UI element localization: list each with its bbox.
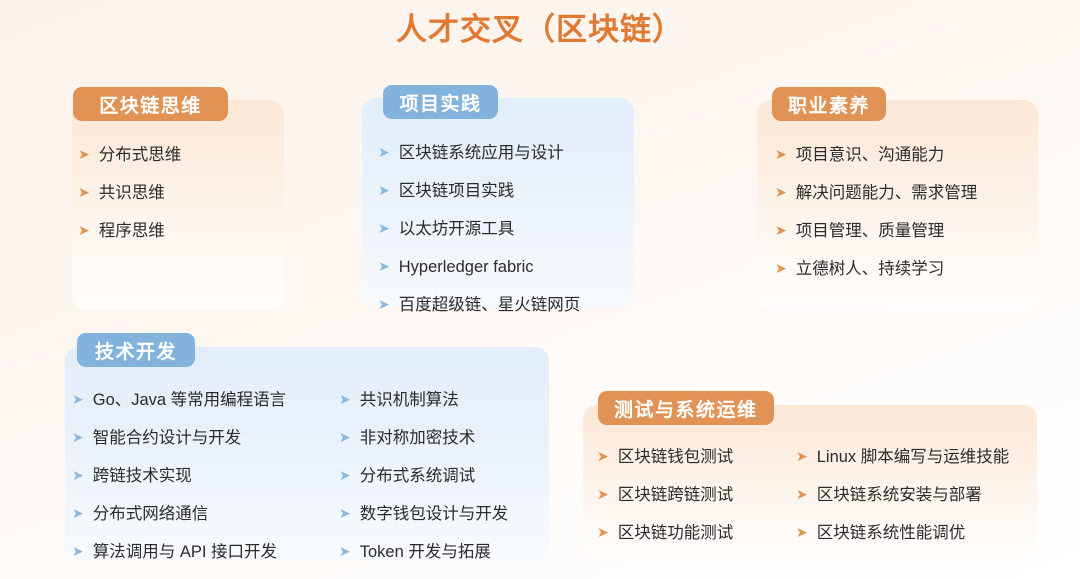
- list-item-label: 区块链系统应用与设计: [399, 138, 564, 168]
- list-item[interactable]: ➤ 解决问题能力、需求管理: [775, 178, 977, 208]
- card-items-testing-and-ops: ➤ 区块链钱包测试 ➤ 区块链跨链测试 ➤ 区块链功能测试 ➤ Linux 脚本…: [597, 442, 1026, 548]
- card-title-technical-development: 技术开发: [77, 333, 195, 367]
- list-item-label: Token 开发与拓展: [360, 537, 491, 567]
- testing-column-left: ➤ 区块链钱包测试 ➤ 区块链跨链测试 ➤ 区块链功能测试: [597, 442, 796, 548]
- arrow-bullet-icon: ➤: [339, 468, 351, 482]
- arrow-bullet-icon: ➤: [775, 147, 787, 161]
- list-item[interactable]: ➤ 区块链功能测试: [597, 518, 796, 548]
- arrow-bullet-icon: ➤: [775, 185, 787, 199]
- list-item-label: 分布式系统调试: [360, 461, 476, 491]
- list-item[interactable]: ➤ 项目管理、质量管理: [775, 216, 977, 246]
- arrow-bullet-icon: ➤: [339, 544, 351, 558]
- arrow-bullet-icon: ➤: [796, 449, 808, 463]
- arrow-bullet-icon: ➤: [72, 392, 84, 406]
- list-item-label: Go、Java 等常用编程语言: [93, 385, 286, 415]
- list-item[interactable]: ➤ 非对称加密技术: [339, 423, 539, 453]
- list-item-label: 区块链钱包测试: [618, 442, 734, 472]
- list-item[interactable]: ➤ 百度超级链、星火链网页: [378, 290, 580, 320]
- arrow-bullet-icon: ➤: [339, 392, 351, 406]
- arrow-bullet-icon: ➤: [796, 525, 808, 539]
- list-item[interactable]: ➤ 项目意识、沟通能力: [775, 140, 977, 170]
- list-item[interactable]: ➤ 区块链项目实践: [378, 176, 580, 206]
- arrow-bullet-icon: ➤: [378, 221, 390, 235]
- arrow-bullet-icon: ➤: [597, 525, 609, 539]
- list-item[interactable]: ➤ 区块链系统安装与部署: [796, 480, 1026, 510]
- list-item[interactable]: ➤ 程序思维: [78, 216, 181, 246]
- list-item-label: 算法调用与 API 接口开发: [93, 537, 277, 567]
- card-title-project-practice: 项目实践: [383, 85, 498, 119]
- list-item-label: 区块链项目实践: [399, 176, 515, 206]
- list-item-label: 区块链功能测试: [618, 518, 734, 548]
- arrow-bullet-icon: ➤: [339, 506, 351, 520]
- list-item[interactable]: ➤ 以太坊开源工具: [378, 214, 580, 244]
- list-item-label: 项目意识、沟通能力: [796, 140, 945, 170]
- list-item-label: 数字钱包设计与开发: [360, 499, 509, 529]
- list-item-label: 以太坊开源工具: [399, 214, 515, 244]
- list-item[interactable]: ➤ 区块链系统性能调优: [796, 518, 1026, 548]
- arrow-bullet-icon: ➤: [78, 147, 90, 161]
- list-item[interactable]: ➤ 算法调用与 API 接口开发: [72, 537, 339, 567]
- list-item-label: 分布式网络通信: [93, 499, 209, 529]
- list-item-label: 共识机制算法: [360, 385, 459, 415]
- list-item[interactable]: ➤ 跨链技术实现: [72, 461, 339, 491]
- arrow-bullet-icon: ➤: [72, 506, 84, 520]
- arrow-bullet-icon: ➤: [597, 487, 609, 501]
- list-item[interactable]: ➤ Linux 脚本编写与运维技能: [796, 442, 1026, 472]
- card-title-testing-and-ops: 测试与系统运维: [598, 391, 774, 425]
- list-item[interactable]: ➤ 共识思维: [78, 178, 181, 208]
- slide-canvas: 人才交叉（区块链） 区块链思维 ➤ 分布式思维 ➤ 共识思维 ➤ 程序思维 项目…: [0, 0, 1080, 579]
- arrow-bullet-icon: ➤: [378, 145, 390, 159]
- list-item[interactable]: ➤ 区块链系统应用与设计: [378, 138, 580, 168]
- arrow-bullet-icon: ➤: [78, 185, 90, 199]
- card-items-project-practice: ➤ 区块链系统应用与设计 ➤ 区块链项目实践 ➤ 以太坊开源工具 ➤ Hyper…: [378, 138, 580, 320]
- list-item-label: 区块链跨链测试: [618, 480, 734, 510]
- arrow-bullet-icon: ➤: [378, 259, 390, 273]
- arrow-bullet-icon: ➤: [378, 183, 390, 197]
- list-item[interactable]: ➤ 共识机制算法: [339, 385, 539, 415]
- list-item[interactable]: ➤ 区块链钱包测试: [597, 442, 796, 472]
- card-items-technical-development: ➤ Go、Java 等常用编程语言 ➤ 智能合约设计与开发 ➤ 跨链技术实现 ➤…: [72, 385, 539, 567]
- list-item[interactable]: ➤ 区块链跨链测试: [597, 480, 796, 510]
- list-item-label: 百度超级链、星火链网页: [399, 290, 581, 320]
- list-item[interactable]: ➤ 分布式系统调试: [339, 461, 539, 491]
- list-item[interactable]: ➤ 分布式思维: [78, 140, 181, 170]
- list-item-label: Linux 脚本编写与运维技能: [817, 442, 1010, 472]
- arrow-bullet-icon: ➤: [796, 487, 808, 501]
- arrow-bullet-icon: ➤: [597, 449, 609, 463]
- list-item[interactable]: ➤ 智能合约设计与开发: [72, 423, 339, 453]
- list-item-label: 程序思维: [99, 216, 165, 246]
- arrow-bullet-icon: ➤: [72, 468, 84, 482]
- tech-dev-column-right: ➤ 共识机制算法 ➤ 非对称加密技术 ➤ 分布式系统调试 ➤ 数字钱包设计与开发…: [339, 385, 539, 567]
- card-items-blockchain-thinking: ➤ 分布式思维 ➤ 共识思维 ➤ 程序思维: [78, 140, 181, 246]
- testing-column-right: ➤ Linux 脚本编写与运维技能 ➤ 区块链系统安装与部署 ➤ 区块链系统性能…: [796, 442, 1026, 548]
- card-title-professional-quality: 职业素养: [772, 87, 886, 121]
- list-item-label: 解决问题能力、需求管理: [796, 178, 978, 208]
- list-item-label: 非对称加密技术: [360, 423, 476, 453]
- list-item[interactable]: ➤ 立德树人、持续学习: [775, 254, 977, 284]
- list-item-label: 项目管理、质量管理: [796, 216, 945, 246]
- arrow-bullet-icon: ➤: [72, 430, 84, 444]
- list-item-label: 跨链技术实现: [93, 461, 192, 491]
- list-item-label: 区块链系统安装与部署: [817, 480, 982, 510]
- list-item-label: 智能合约设计与开发: [93, 423, 242, 453]
- tech-dev-column-left: ➤ Go、Java 等常用编程语言 ➤ 智能合约设计与开发 ➤ 跨链技术实现 ➤…: [72, 385, 339, 567]
- page-title: 人才交叉（区块链）: [0, 8, 1080, 52]
- list-item-label: 区块链系统性能调优: [817, 518, 966, 548]
- arrow-bullet-icon: ➤: [339, 430, 351, 444]
- arrow-bullet-icon: ➤: [775, 223, 787, 237]
- list-item[interactable]: ➤ Hyperledger fabric: [378, 252, 580, 282]
- list-item-label: Hyperledger fabric: [399, 252, 534, 282]
- list-item-label: 分布式思维: [99, 140, 182, 170]
- list-item[interactable]: ➤ Token 开发与拓展: [339, 537, 539, 567]
- list-item[interactable]: ➤ 数字钱包设计与开发: [339, 499, 539, 529]
- list-item-label: 共识思维: [99, 178, 165, 208]
- arrow-bullet-icon: ➤: [378, 297, 390, 311]
- card-items-professional-quality: ➤ 项目意识、沟通能力 ➤ 解决问题能力、需求管理 ➤ 项目管理、质量管理 ➤ …: [775, 140, 977, 284]
- arrow-bullet-icon: ➤: [72, 544, 84, 558]
- card-title-blockchain-thinking: 区块链思维: [73, 87, 228, 121]
- arrow-bullet-icon: ➤: [775, 261, 787, 275]
- list-item-label: 立德树人、持续学习: [796, 254, 945, 284]
- arrow-bullet-icon: ➤: [78, 223, 90, 237]
- list-item[interactable]: ➤ 分布式网络通信: [72, 499, 339, 529]
- list-item[interactable]: ➤ Go、Java 等常用编程语言: [72, 385, 339, 415]
